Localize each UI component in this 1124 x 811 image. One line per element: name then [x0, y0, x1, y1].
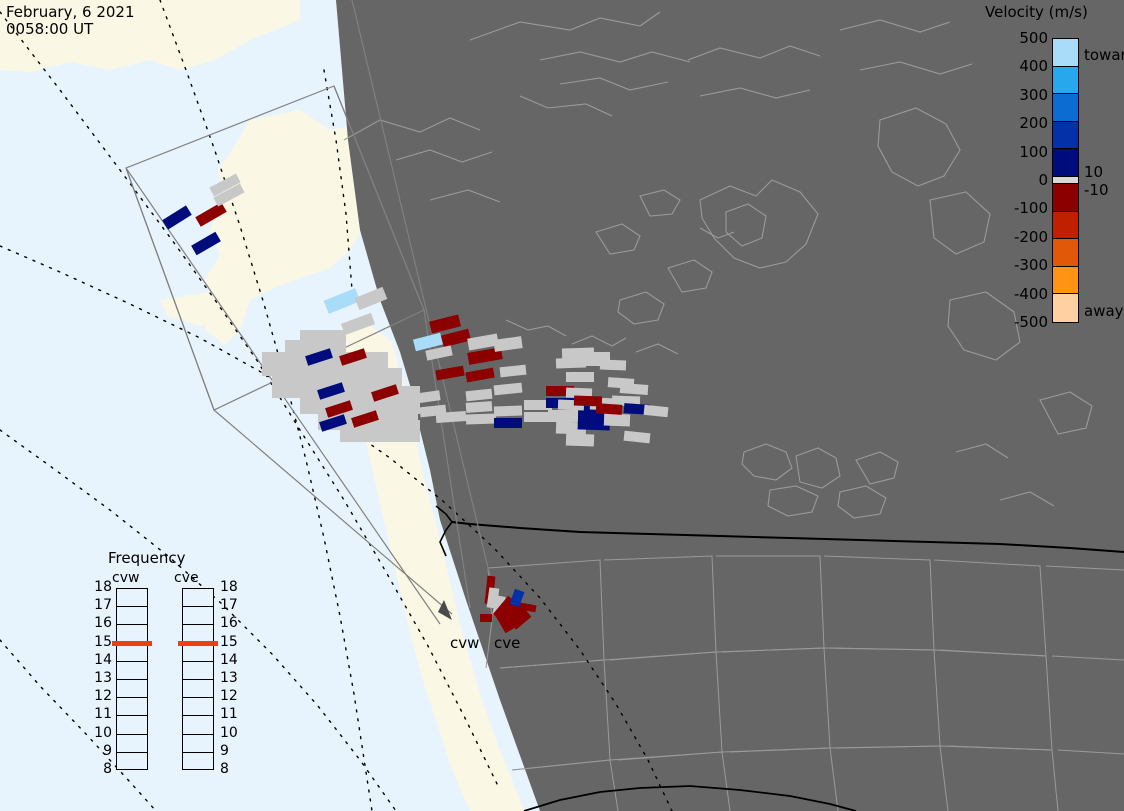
frequency-tick-label: 14 [88, 652, 112, 668]
scatter-cell [494, 383, 523, 396]
colorbar-swatch [1053, 267, 1078, 295]
frequency-marker [112, 641, 152, 646]
scatter-cell [436, 411, 467, 423]
frequency-marker [178, 641, 218, 646]
frequency-cell [183, 589, 213, 607]
colorbar-tick-label: 400 [990, 57, 1048, 75]
frequency-column-label-cvw: cvw [112, 570, 139, 586]
scatter-cell [341, 313, 375, 335]
scatter-cell [566, 372, 594, 382]
frequency-cell [117, 662, 147, 680]
frequency-cell [183, 716, 213, 734]
colorbar-tick-label: 300 [990, 86, 1048, 104]
scatter-cell [466, 401, 493, 413]
colorbar-swatch [1053, 149, 1078, 177]
frequency-tick-label: 10 [88, 725, 112, 741]
scatter-cell [608, 377, 635, 389]
scatter-cell [466, 389, 493, 402]
date-label: February, 6 2021 [6, 4, 135, 21]
frequency-tick-label: 13 [220, 670, 244, 686]
colorbar-swatch [1053, 184, 1078, 212]
colorbar-away-label: away [1084, 302, 1124, 320]
frequency-cell [183, 662, 213, 680]
colorbar-title: Velocity (m/s) [985, 3, 1088, 21]
scatter-cell [195, 202, 226, 227]
colorbar-tick-label: -400 [990, 285, 1048, 303]
frequency-tick-label: 8 [88, 761, 112, 777]
colorbar-tick-label: -100 [990, 199, 1048, 217]
colorbar-swatch [1053, 212, 1078, 240]
time-label: 0058:00 UT [6, 21, 93, 38]
scatter-cell [500, 365, 527, 378]
frequency-tick-label: 12 [88, 688, 112, 704]
scatter-cell [596, 403, 623, 415]
frequency-tick-label: 9 [88, 743, 112, 759]
frequency-cell [183, 607, 213, 625]
radar-site-label: cve [494, 634, 520, 652]
frequency-column-label-cve: cve [174, 570, 199, 586]
frequency-cell [183, 735, 213, 753]
colorbar-swatch [1053, 67, 1078, 95]
frequency-tick-label: 17 [220, 597, 244, 613]
colorbar-swatch [1053, 239, 1078, 267]
frequency-tick-label: 11 [220, 706, 244, 722]
frequency-tick-label: 16 [220, 615, 244, 631]
scatter-cell [162, 205, 192, 229]
scatter-cell [435, 366, 464, 381]
frequency-cell [117, 680, 147, 698]
frequency-tick-label: 16 [88, 615, 112, 631]
radar-map-figure: February, 6 2021 0058:00 UT Velocity (m/… [0, 0, 1124, 811]
frequency-tick-label: 11 [88, 706, 112, 722]
colorbar-tick-label: 100 [990, 143, 1048, 161]
frequency-tick-label: 10 [220, 725, 244, 741]
frequency-tick-label: 18 [220, 579, 244, 595]
frequency-title: Frequency [108, 549, 186, 567]
frequency-tick-label: 8 [220, 761, 244, 777]
scatter-cell [493, 336, 522, 352]
scatter-cell [466, 413, 496, 424]
frequency-cell [117, 716, 147, 734]
frequency-cell [117, 735, 147, 753]
frequency-tick-label: 14 [220, 652, 244, 668]
colorbar-swatch [1053, 122, 1078, 150]
scatter-cell [566, 434, 594, 447]
frequency-tick-label: 17 [88, 597, 112, 613]
colorbar-swatch [1053, 94, 1078, 122]
colorbar-tick-label: -200 [990, 228, 1048, 246]
velocity-colorbar [1052, 38, 1079, 323]
scatter-cell [465, 368, 494, 383]
scatter-cell [586, 352, 610, 362]
scatter-cell [494, 418, 522, 428]
frequency-tick-label: 12 [220, 688, 244, 704]
scatter-cell [480, 614, 492, 622]
frequency-tick-label: 15 [88, 634, 112, 650]
colorbar-tick-label: -500 [990, 313, 1048, 331]
frequency-cell [183, 644, 213, 662]
frequency-cell [117, 753, 147, 771]
scatter-cell-layer [0, 0, 1124, 811]
colorbar-swatch [1053, 294, 1078, 322]
frequency-cell [117, 698, 147, 716]
scatter-cell [355, 287, 388, 310]
scatter-cell [644, 405, 669, 417]
frequency-cell [183, 753, 213, 771]
frequency-bar-cve [182, 588, 214, 770]
colorbar-swatch [1053, 39, 1078, 67]
colorbar-minus-ten-label: -10 [1084, 181, 1109, 199]
colorbar-tick-label: -300 [990, 256, 1048, 274]
frequency-cell [117, 644, 147, 662]
colorbar-neutral-band [1053, 177, 1078, 184]
frequency-cell [117, 589, 147, 607]
frequency-bar-cvw [116, 588, 148, 770]
colorbar-toward-label: toward [1084, 46, 1124, 64]
colorbar-tick-label: 500 [990, 29, 1048, 47]
frequency-tick-label: 18 [88, 579, 112, 595]
frequency-cell [117, 607, 147, 625]
scatter-cell [604, 414, 630, 427]
scatter-cell [548, 410, 578, 422]
colorbar-plus-ten-label: 10 [1084, 163, 1103, 181]
frequency-tick-label: 13 [88, 670, 112, 686]
colorbar-tick-label: 0 [990, 171, 1048, 189]
scatter-cell [191, 232, 221, 256]
scatter-cell [494, 406, 522, 417]
radar-site-label: cvw [450, 634, 479, 652]
scatter-cell [624, 431, 651, 444]
colorbar-tick-label: 200 [990, 114, 1048, 132]
frequency-cell [183, 698, 213, 716]
frequency-cell [183, 680, 213, 698]
frequency-tick-label: 9 [220, 743, 244, 759]
frequency-tick-label: 15 [220, 634, 244, 650]
scatter-cell [413, 390, 440, 404]
